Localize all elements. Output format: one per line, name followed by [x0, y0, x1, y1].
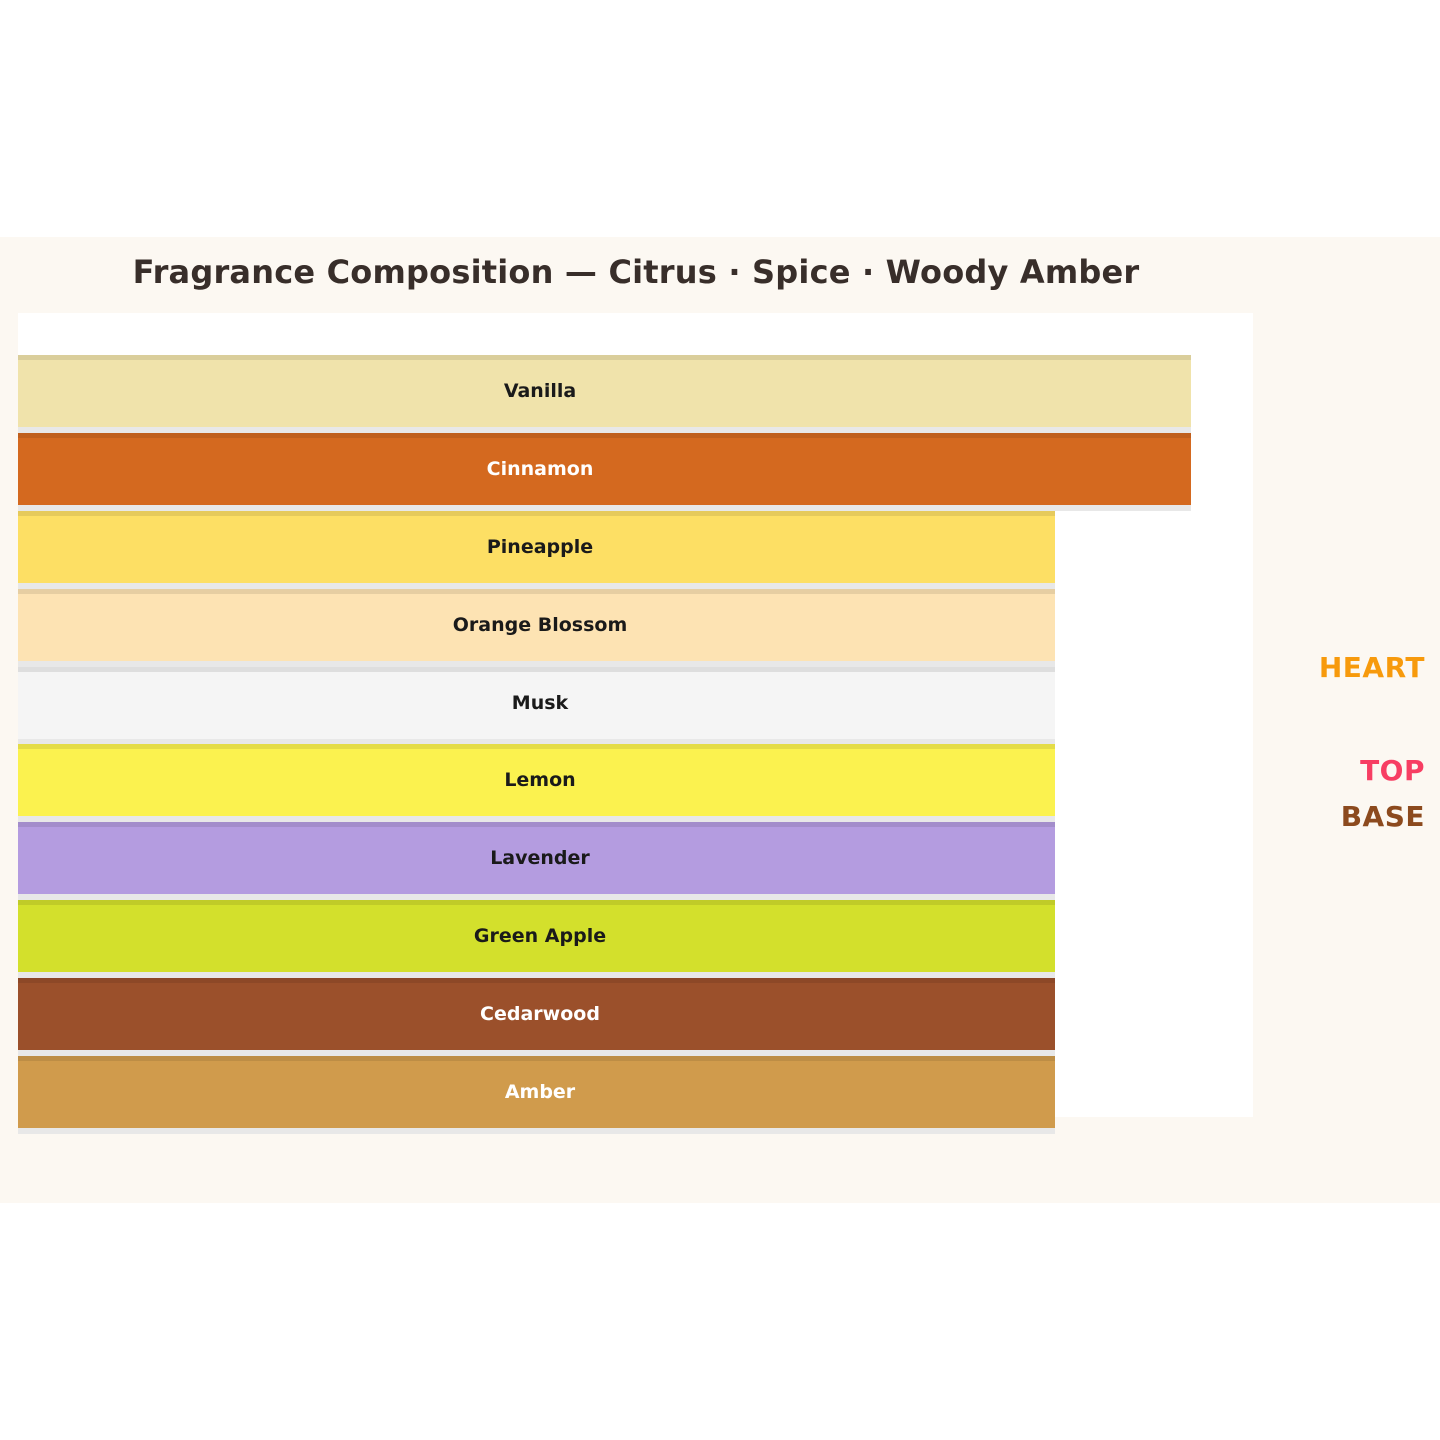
bar-fill[interactable] — [18, 744, 1055, 816]
bar-fill[interactable] — [18, 822, 1055, 894]
legend-entry-top[interactable]: TOP — [1360, 754, 1425, 787]
bar-series: VanillaCinnamonPineappleOrange BlossomMu… — [18, 313, 1253, 1117]
legend-entry-base[interactable]: BASE — [1341, 800, 1425, 833]
bar-row[interactable]: Vanilla — [18, 355, 1253, 433]
bar-row[interactable]: Amber — [18, 1056, 1253, 1134]
bar-fill[interactable] — [18, 589, 1055, 661]
bar-row[interactable]: Cinnamon — [18, 433, 1253, 511]
bar-row[interactable]: Lemon — [18, 744, 1253, 822]
chart-legend: HEARTTOPBASE — [1245, 237, 1425, 1203]
bar-row[interactable]: Pineapple — [18, 511, 1253, 589]
legend-entry-heart[interactable]: HEART — [1319, 651, 1425, 684]
chart-title: Fragrance Composition — Citrus · Spice ·… — [0, 253, 1272, 291]
bar-fill[interactable] — [18, 978, 1055, 1050]
bar-fill[interactable] — [18, 511, 1055, 583]
bar-row[interactable]: Green Apple — [18, 900, 1253, 978]
bar-row[interactable]: Orange Blossom — [18, 589, 1253, 667]
bar-fill[interactable] — [18, 433, 1191, 505]
bar-row[interactable]: Musk — [18, 667, 1253, 745]
bar-fill[interactable] — [18, 667, 1055, 739]
chart-figure: Fragrance Composition — Citrus · Spice ·… — [0, 237, 1440, 1203]
bar-row[interactable]: Lavender — [18, 822, 1253, 900]
bar-fill[interactable] — [18, 1056, 1055, 1128]
plot-panel: VanillaCinnamonPineappleOrange BlossomMu… — [18, 313, 1253, 1117]
bar-row[interactable]: Cedarwood — [18, 978, 1253, 1056]
bar-fill[interactable] — [18, 355, 1191, 427]
bar-fill[interactable] — [18, 900, 1055, 972]
